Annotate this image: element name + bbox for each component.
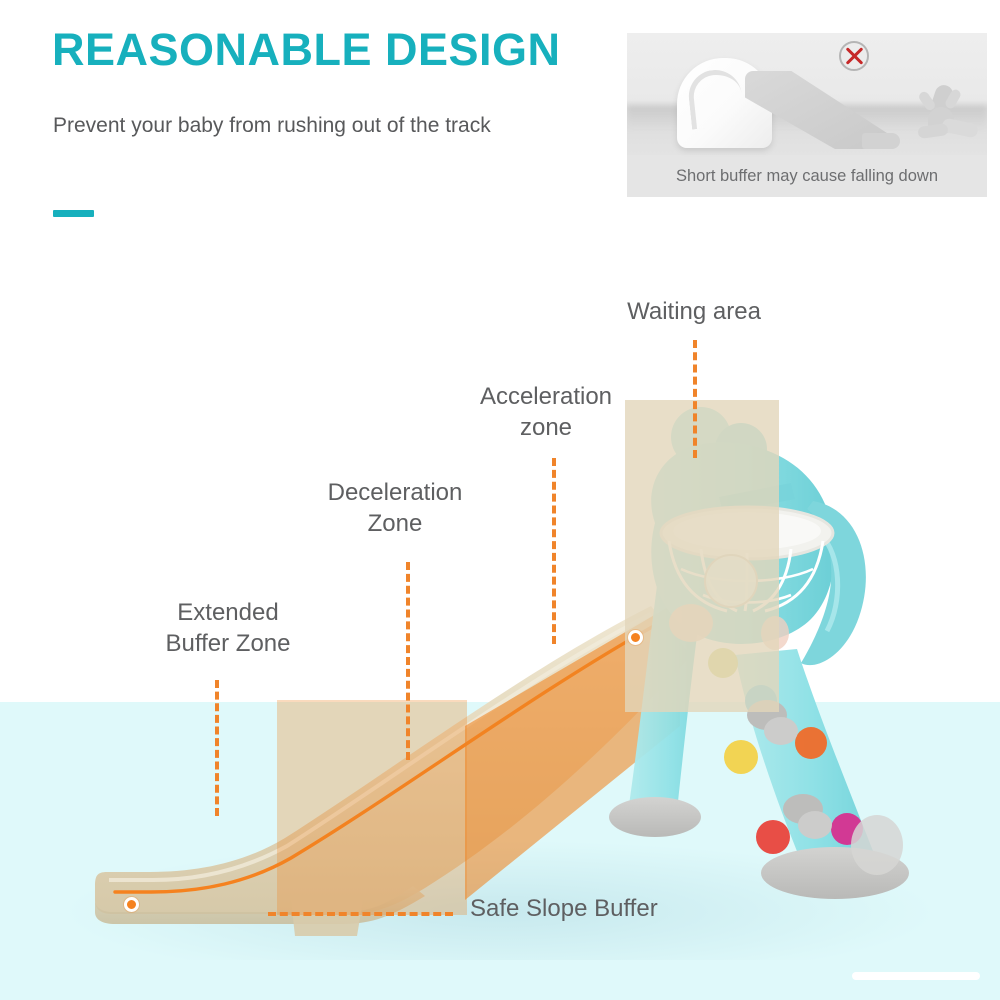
connector-waiting [693, 340, 697, 458]
marker-slide-end [124, 897, 139, 912]
connector-acceleration [552, 458, 556, 644]
marker-slide-top [628, 630, 643, 645]
label-safe-slope-buffer: Safe Slope Buffer [470, 894, 730, 925]
bottom-accent-bar [852, 972, 980, 980]
label-waiting-area: Waiting area [598, 297, 790, 328]
connector-buffer [215, 680, 219, 816]
slide-tower [615, 405, 875, 950]
infographic-canvas: REASONABLE DESIGN Prevent your baby from… [0, 0, 1000, 1000]
connector-deceleration [406, 562, 410, 760]
label-extended-buffer-zone: Extended Buffer Zone [128, 598, 328, 659]
product-illustration [0, 0, 1000, 1000]
label-deceleration-zone: Deceleration Zone [295, 478, 495, 539]
connector-safe-slope [268, 912, 453, 916]
label-acceleration-zone: Acceleration zone [448, 382, 644, 443]
